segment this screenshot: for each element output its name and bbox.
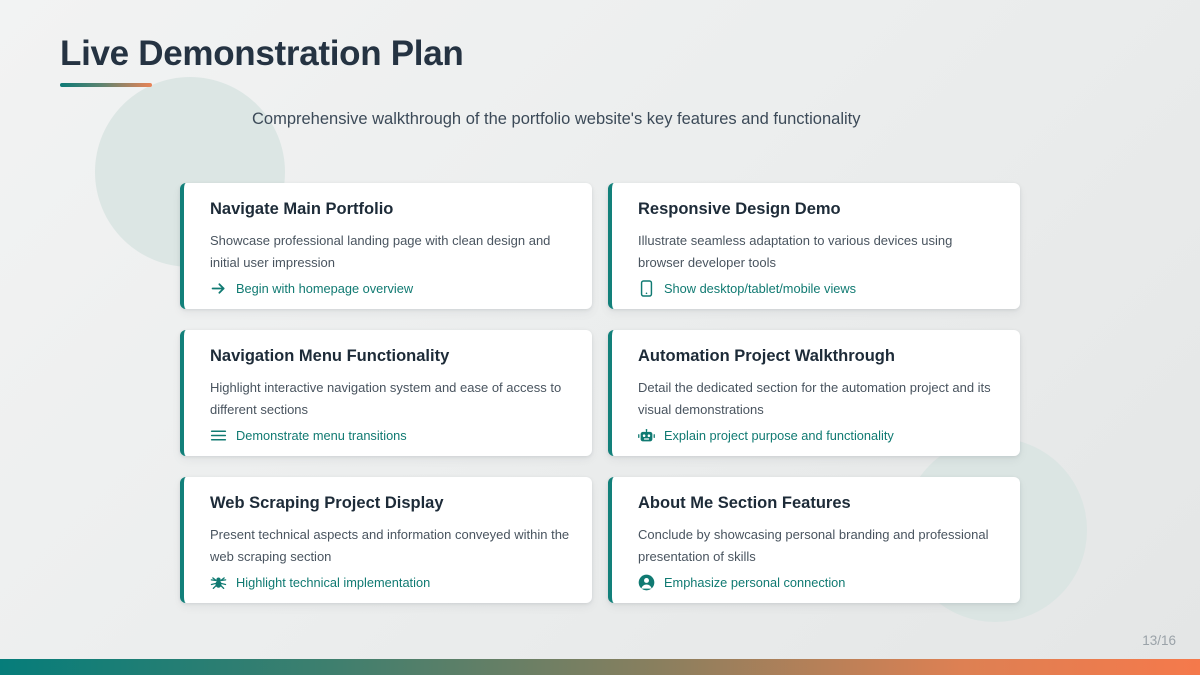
card-title: Automation Project Walkthrough xyxy=(638,347,998,367)
spider-icon xyxy=(210,574,227,591)
card-action[interactable]: Begin with homepage overview xyxy=(210,280,570,297)
demonstration-step-card-grid: Navigate Main PortfolioShowcase professi… xyxy=(180,183,1020,603)
card-action-label: Show desktop/tablet/mobile views xyxy=(664,281,856,296)
card-action-label: Begin with homepage overview xyxy=(236,281,413,296)
demonstration-step-card[interactable]: About Me Section FeaturesConclude by sho… xyxy=(608,477,1020,603)
card-action-label: Explain project purpose and functionalit… xyxy=(664,428,894,443)
arrow-right-icon xyxy=(210,280,227,297)
card-description: Conclude by showcasing personal branding… xyxy=(638,524,998,568)
title-underline-accent xyxy=(60,83,152,87)
card-action-label: Emphasize personal connection xyxy=(664,575,845,590)
card-description: Detail the dedicated section for the aut… xyxy=(638,377,998,421)
demonstration-step-card[interactable]: Automation Project WalkthroughDetail the… xyxy=(608,330,1020,456)
card-title: Navigation Menu Functionality xyxy=(210,347,570,367)
card-description: Highlight interactive navigation system … xyxy=(210,377,570,421)
footer-accent-bar xyxy=(0,659,1200,675)
card-title: About Me Section Features xyxy=(638,494,998,514)
demonstration-step-card[interactable]: Navigate Main PortfolioShowcase professi… xyxy=(180,183,592,309)
demonstration-step-card[interactable]: Navigation Menu FunctionalityHighlight i… xyxy=(180,330,592,456)
card-title: Responsive Design Demo xyxy=(638,200,998,220)
card-action[interactable]: Emphasize personal connection xyxy=(638,574,998,591)
slide-subtitle: Comprehensive walkthrough of the portfol… xyxy=(252,110,861,129)
slide-header: Live Demonstration Plan xyxy=(60,34,463,87)
card-action[interactable]: Show desktop/tablet/mobile views xyxy=(638,280,998,297)
card-title: Navigate Main Portfolio xyxy=(210,200,570,220)
card-action[interactable]: Explain project purpose and functionalit… xyxy=(638,427,998,444)
card-description: Showcase professional landing page with … xyxy=(210,230,570,274)
page-title: Live Demonstration Plan xyxy=(60,34,463,73)
mobile-phone-icon xyxy=(638,280,655,297)
hamburger-menu-icon xyxy=(210,427,227,444)
card-action-label: Highlight technical implementation xyxy=(236,575,430,590)
card-action[interactable]: Demonstrate menu transitions xyxy=(210,427,570,444)
card-description: Present technical aspects and informatio… xyxy=(210,524,570,568)
user-profile-icon xyxy=(638,574,655,591)
robot-icon xyxy=(638,427,655,444)
page-number: 13/16 xyxy=(1142,633,1176,648)
demonstration-step-card[interactable]: Responsive Design DemoIllustrate seamles… xyxy=(608,183,1020,309)
card-title: Web Scraping Project Display xyxy=(210,494,570,514)
demonstration-step-card[interactable]: Web Scraping Project DisplayPresent tech… xyxy=(180,477,592,603)
card-action-label: Demonstrate menu transitions xyxy=(236,428,407,443)
card-description: Illustrate seamless adaptation to variou… xyxy=(638,230,998,274)
card-action[interactable]: Highlight technical implementation xyxy=(210,574,570,591)
